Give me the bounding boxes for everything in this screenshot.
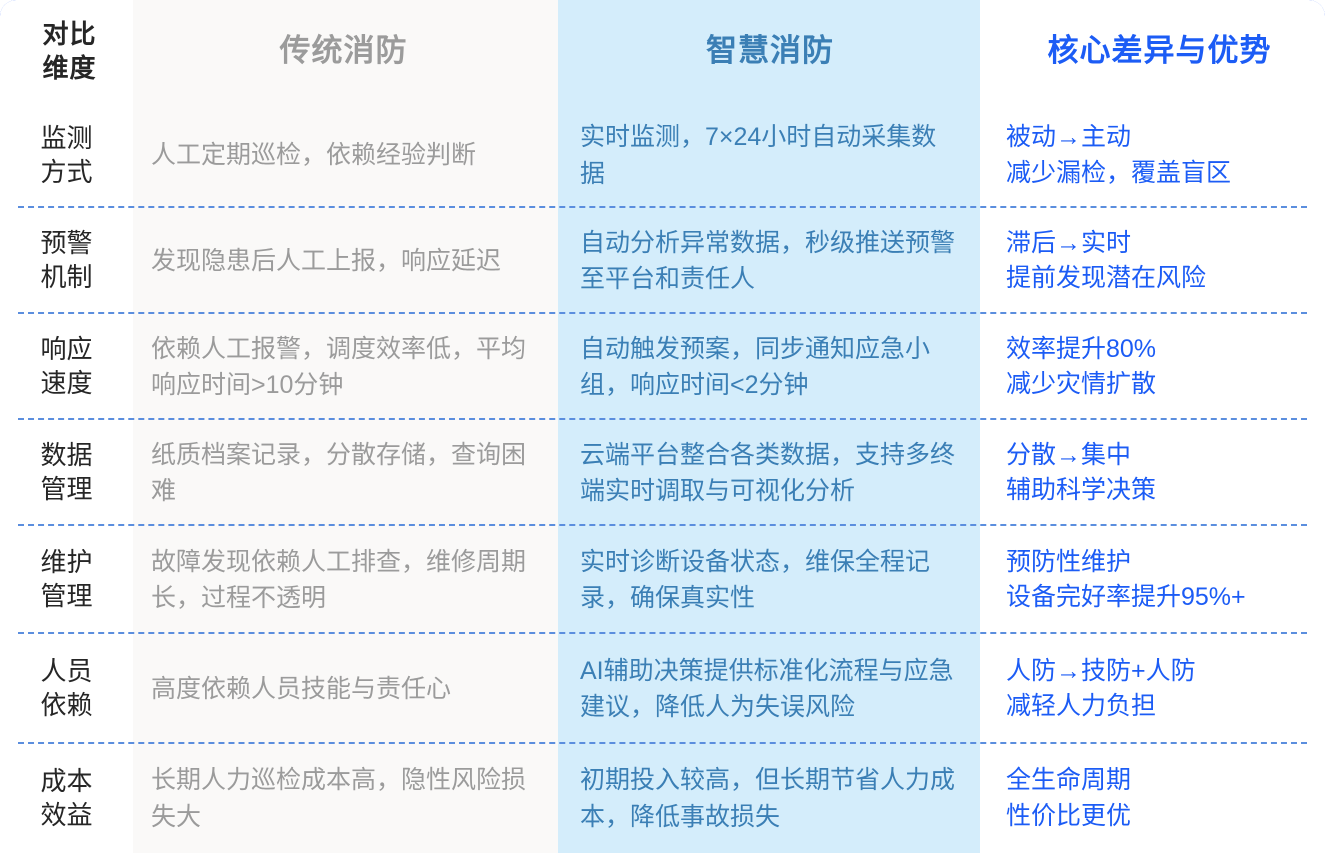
table-row: 维护 管理 故障发现依赖人工排查，维修周期长，过程不透明 实时诊断设备状态，维保… [0,526,1325,634]
header-label-traditional: 传统消防 [280,33,408,70]
table-body: 监测 方式 人工定期巡检，依赖经验判断 实时监测，7×24小时自动采集数据 被动… [0,103,1325,853]
table-row: 预警 机制 发现隐患后人工上报，响应延迟 自动分析异常数据，秒级推送预警至平台和… [0,208,1325,314]
cell-smart: 实时诊断设备状态，维保全程记录，确保真实性 [558,526,980,634]
comparison-table: 对比 维度 传统消防 智慧消防 核心差异与优势 监测 方式 人工定期巡检，依赖经… [0,0,1325,853]
cell-traditional: 故障发现依赖人工排查，维修周期长，过程不透明 [133,526,558,634]
cell-smart: 自动触发预案，同步通知应急小组，响应时间<2分钟 [558,314,980,420]
header-cell-dimension: 对比 维度 [0,0,133,103]
cell-dimension: 数据 管理 [0,420,133,526]
cell-advantage: 全生命周期 性价比更优 [980,744,1325,853]
header-cell-traditional: 传统消防 [133,0,558,103]
cell-traditional: 依赖人工报警，调度效率低，平均响应时间>10分钟 [133,314,558,420]
cell-traditional: 长期人力巡检成本高，隐性风险损失大 [133,744,558,853]
cell-dimension: 维护 管理 [0,526,133,634]
table-header-row: 对比 维度 传统消防 智慧消防 核心差异与优势 [0,0,1325,103]
cell-advantage: 滞后→实时 提前发现潜在风险 [980,208,1325,314]
cell-dimension: 监测 方式 [0,103,133,208]
table-row: 数据 管理 纸质档案记录，分散存储，查询困难 云端平台整合各类数据，支持多终端实… [0,420,1325,526]
cell-smart: AI辅助决策提供标准化流程与应急建议，降低人为失误风险 [558,634,980,744]
cell-smart: 自动分析异常数据，秒级推送预警至平台和责任人 [558,208,980,314]
header-label-dimension: 对比 维度 [42,18,96,86]
cell-smart: 实时监测，7×24小时自动采集数据 [558,103,980,208]
cell-dimension: 人员 依赖 [0,634,133,744]
cell-advantage: 效率提升80% 减少灾情扩散 [980,314,1325,420]
cell-advantage: 被动→主动 减少漏检，覆盖盲区 [980,103,1325,208]
header-label-smart: 智慧消防 [706,33,834,70]
table-row: 响应 速度 依赖人工报警，调度效率低，平均响应时间>10分钟 自动触发预案，同步… [0,314,1325,420]
table-row: 成本 效益 长期人力巡检成本高，隐性风险损失大 初期投入较高，但长期节省人力成本… [0,744,1325,853]
cell-smart: 初期投入较高，但长期节省人力成本，降低事故损失 [558,744,980,853]
cell-traditional: 发现隐患后人工上报，响应延迟 [133,208,558,314]
cell-traditional: 高度依赖人员技能与责任心 [133,634,558,744]
cell-dimension: 响应 速度 [0,314,133,420]
cell-advantage: 分散→集中 辅助科学决策 [980,420,1325,526]
table-row: 监测 方式 人工定期巡检，依赖经验判断 实时监测，7×24小时自动采集数据 被动… [0,103,1325,208]
cell-smart: 云端平台整合各类数据，支持多终端实时调取与可视化分析 [558,420,980,526]
cell-advantage: 人防→技防+人防 减轻人力负担 [980,634,1325,744]
table-row: 人员 依赖 高度依赖人员技能与责任心 AI辅助决策提供标准化流程与应急建议，降低… [0,634,1325,744]
cell-dimension: 预警 机制 [0,208,133,314]
header-label-advantage: 核心差异与优势 [1048,29,1272,73]
header-cell-advantage: 核心差异与优势 [980,0,1325,103]
header-cell-smart: 智慧消防 [558,0,980,103]
cell-traditional: 纸质档案记录，分散存储，查询困难 [133,420,558,526]
cell-dimension: 成本 效益 [0,744,133,853]
cell-advantage: 预防性维护 设备完好率提升95%+ [980,526,1325,634]
cell-traditional: 人工定期巡检，依赖经验判断 [133,103,558,208]
